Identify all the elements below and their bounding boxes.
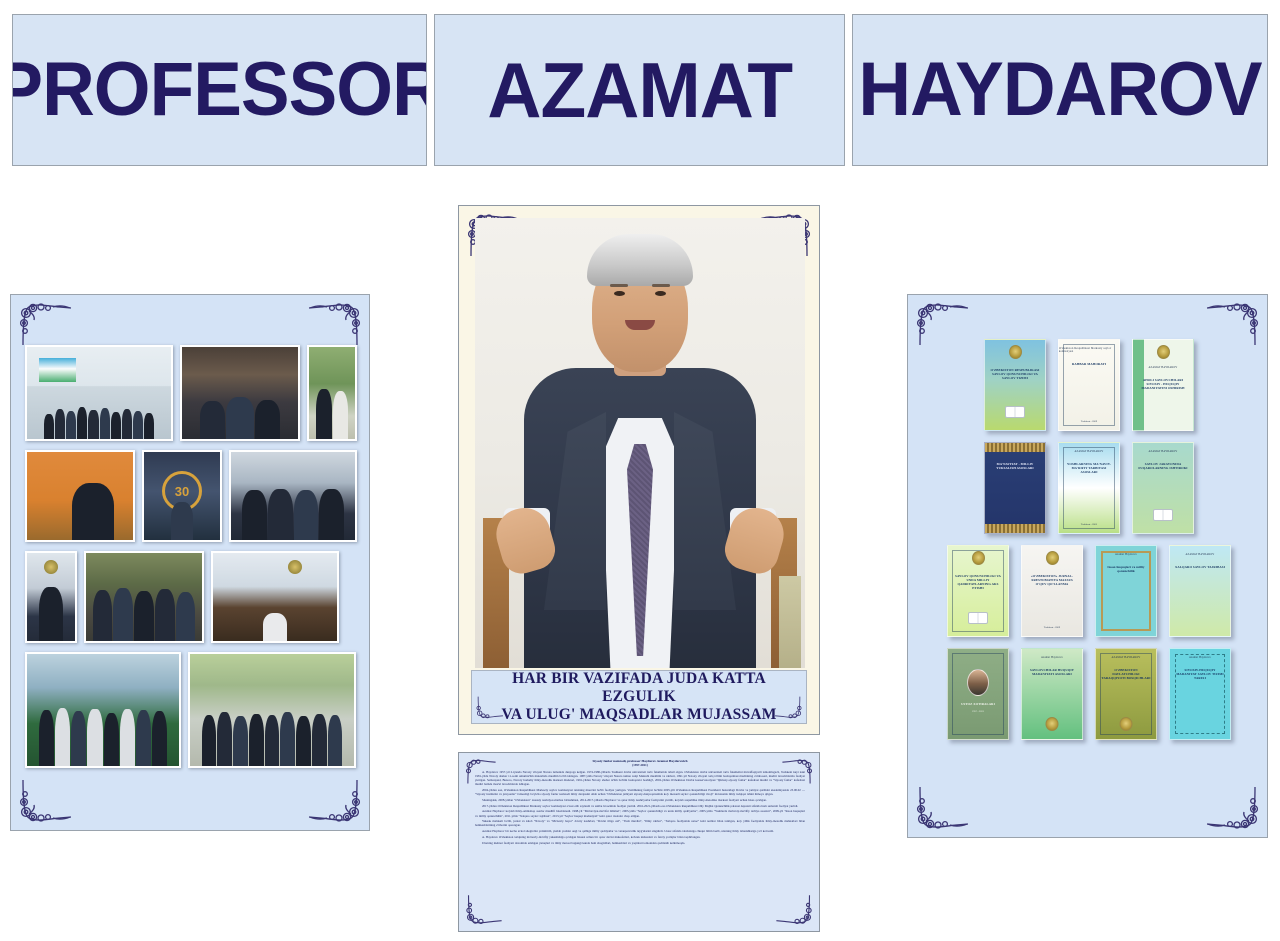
- book-title: XALQARO SAYLOV TAJRIBASI: [1170, 565, 1230, 569]
- bio-paragraph: Shuningdek, 2008-yildan "O'zbekiston" xu…: [475, 798, 805, 802]
- book-title: «O'ZBEKISTON» JURNAL-XRESTOMATIYA MAXSUS…: [1022, 574, 1082, 586]
- bio-paragraph: 2004-yildan son, O'zbekiston Respublikas…: [475, 788, 805, 796]
- book-city: Toshkent - 2009: [1022, 626, 1082, 629]
- collage-row: [25, 551, 357, 643]
- right-books-panel: O'ZBEKISTON RESPUBLIKASI SAYLOV QONUNCHI…: [907, 294, 1268, 838]
- portrait-caption: HAR BIR VAZIFADA JUDA KATTA EZGULIK VA U…: [472, 670, 806, 725]
- bio-paragraph: Ularning mehnat faoliyati davomida erish…: [475, 841, 805, 845]
- bio-paragraph: A. Haydarov 1957-yil 2-iyunda Navoiy vil…: [475, 770, 805, 787]
- book-cover: AZAMAT HAYDAROV AHOLI SAYLOVCHILARI SIYO…: [1132, 339, 1194, 431]
- book-row: O'ZBEKISTON RESPUBLIKASI SAYLOV QONUNCHI…: [926, 339, 1252, 431]
- bio-paragraph: 2017-yildan O'zbekiston Respublikasi Mar…: [475, 804, 805, 808]
- book-cover: Azamat Haydarov SIYOSIY-HUQUQIY MADANIYA…: [1169, 648, 1231, 740]
- header-row: PROFESSOR AZAMAT HAYDAROV: [0, 0, 1280, 178]
- header-box-azamat: AZAMAT: [434, 14, 845, 166]
- book-city: Toshkent - 2009: [1059, 420, 1119, 423]
- header-word-professor: PROFESSOR: [12, 52, 427, 128]
- book-author: Azamat Haydarov: [1041, 656, 1063, 659]
- portrait-photo: [475, 218, 805, 668]
- book-author: AZAMAT HAYDAROV: [1185, 553, 1214, 556]
- book-cover: AZAMAT HAYDAROV XALQARO SAYLOV TAJRIBASI: [1169, 545, 1231, 637]
- book-years: 1957 - 2021: [948, 710, 1008, 713]
- book-row: AZAMAT HAYDAROV MA'NAVIYAT - MILLIY YUKS…: [926, 442, 1252, 534]
- poster-root: PROFESSOR AZAMAT HAYDAROV: [0, 0, 1280, 941]
- photo-delegation-yard: [188, 652, 356, 768]
- bio-years: (1957-2021): [475, 764, 805, 768]
- bio-paragraph: Azamat Haydarov bir necha avlod shogirdl…: [475, 829, 805, 833]
- photo-students-hall: [25, 652, 181, 768]
- bio-paragraph: Azamat Haydarov ko'plab ilmiy-ommabop as…: [475, 809, 805, 817]
- photo-conference-group: [25, 345, 173, 441]
- book-covers-grid: O'ZBEKISTON RESPUBLIKASI SAYLOV QONUNCHI…: [926, 339, 1252, 799]
- collage-row: [25, 345, 357, 441]
- photo-outdoor-meeting: [84, 551, 204, 643]
- book-cover: Azamat Haydarov Inson huquqlari va milli…: [1095, 545, 1157, 637]
- book-cover: AZAMAT HAYDAROV SAYLOV JARAYONIDA FUQARO…: [1132, 442, 1194, 534]
- book-city: Toshkent - 2005: [1059, 523, 1119, 526]
- photo-graduation: [307, 345, 357, 441]
- header-word-azamat: AZAMAT: [487, 51, 792, 129]
- collage-row: 30: [25, 450, 357, 542]
- photo-four-men: [229, 450, 357, 542]
- book-title: O'ZBEKISTON RESPUBLIKASI SAYLOV QONUNCHI…: [985, 368, 1045, 380]
- photo-solo-portrait: [25, 551, 77, 643]
- book-cover: SAYLOV QONUNCHILIGI VA UNDA MILLIY QADRI…: [947, 545, 1009, 637]
- collage-row: [25, 652, 357, 768]
- book-row: 1957 - 2021 USTOZ XOTIRALARI Azamat Hayd…: [926, 648, 1252, 740]
- photo-podium-speech: [25, 450, 135, 542]
- book-row: SAYLOV QONUNCHILIGI VA UNDA MILLIY QADRI…: [926, 545, 1252, 637]
- book-author: AZAMAT HAYDAROV: [1148, 366, 1177, 369]
- book-cover: O'ZBEKISTON RESPUBLIKASI SAYLOV QONUNCHI…: [984, 339, 1046, 431]
- book-cover: AZAMAT HAYDAROV YOSHLARNING MA'NAVIY-MA'…: [1058, 442, 1120, 534]
- book-title: MA'NAVIYAT - MILLIY YUKSALISH ASOSLARI: [985, 462, 1045, 470]
- header-box-professor: PROFESSOR: [12, 14, 427, 166]
- photo-anniversary-stage: 30: [142, 450, 222, 542]
- caption-line-1: HAR BIR VAZIFADA JUDA KATTA EZGULIK: [512, 670, 766, 705]
- biography-text: Siyosiy fanlar nomzodi, professor Haydar…: [475, 759, 805, 927]
- biography-panel: Siyosiy fanlar nomzodi, professor Haydar…: [458, 752, 820, 932]
- center-portrait-panel: HAR BIR VAZIFADA JUDA KATTA EZGULIK VA U…: [458, 205, 820, 735]
- book-cover: «O'ZBEKISTON» JURNAL-XRESTOMATIYA MAXSUS…: [1021, 545, 1083, 637]
- header-word-haydarov: HAYDAROV: [858, 52, 1261, 128]
- caption-line-2: VA ULUG' MAQSADLAR MUJASSAM: [501, 706, 776, 723]
- photo-collage: 30: [25, 345, 357, 815]
- portrait-caption-band: HAR BIR VAZIFADA JUDA KATTA EZGULIK VA U…: [471, 670, 807, 724]
- book-cover: 1957 - 2021 USTOZ XOTIRALARI: [947, 648, 1009, 740]
- bio-paragraph: A. Haydarov O'zbekiston xalqining ma'nav…: [475, 835, 805, 839]
- book-title: SAYLOV JARAYONIDA FUQAROLARNING ISHTIROK…: [1133, 462, 1193, 470]
- book-title: SAYLOVCHILAR HUQUQIY MADANIYATI ASOSLARI: [1022, 668, 1082, 676]
- book-author: AZAMAT HAYDAROV: [1148, 450, 1177, 453]
- book-cover: AZAMAT HAYDAROV O'ZBEKISTON DAVLATCHILIG…: [1095, 648, 1157, 740]
- book-title: AHOLI SAYLOVCHILARI SIYOSIY - HUQUQIY MA…: [1133, 378, 1193, 390]
- left-collage-panel: 30: [10, 294, 370, 831]
- header-box-haydarov: HAYDAROV: [852, 14, 1268, 166]
- book-cover: Azamat Haydarov SAYLOVCHILAR HUQUQIY MAD…: [1021, 648, 1083, 740]
- corner-flourish-icon: [15, 299, 73, 351]
- photo-office-desk: [211, 551, 339, 643]
- photo-seated-officials: [180, 345, 300, 441]
- corner-flourish-icon: [307, 299, 365, 351]
- book-cover: O'zbekiston Respublikasi Markaziy saylov…: [1058, 339, 1120, 431]
- book-cover: AZAMAT HAYDAROV MA'NAVIYAT - MILLIY YUKS…: [984, 442, 1046, 534]
- bio-paragraph: Yuksak malakali bo'lib, jurnal va kitob …: [475, 819, 805, 827]
